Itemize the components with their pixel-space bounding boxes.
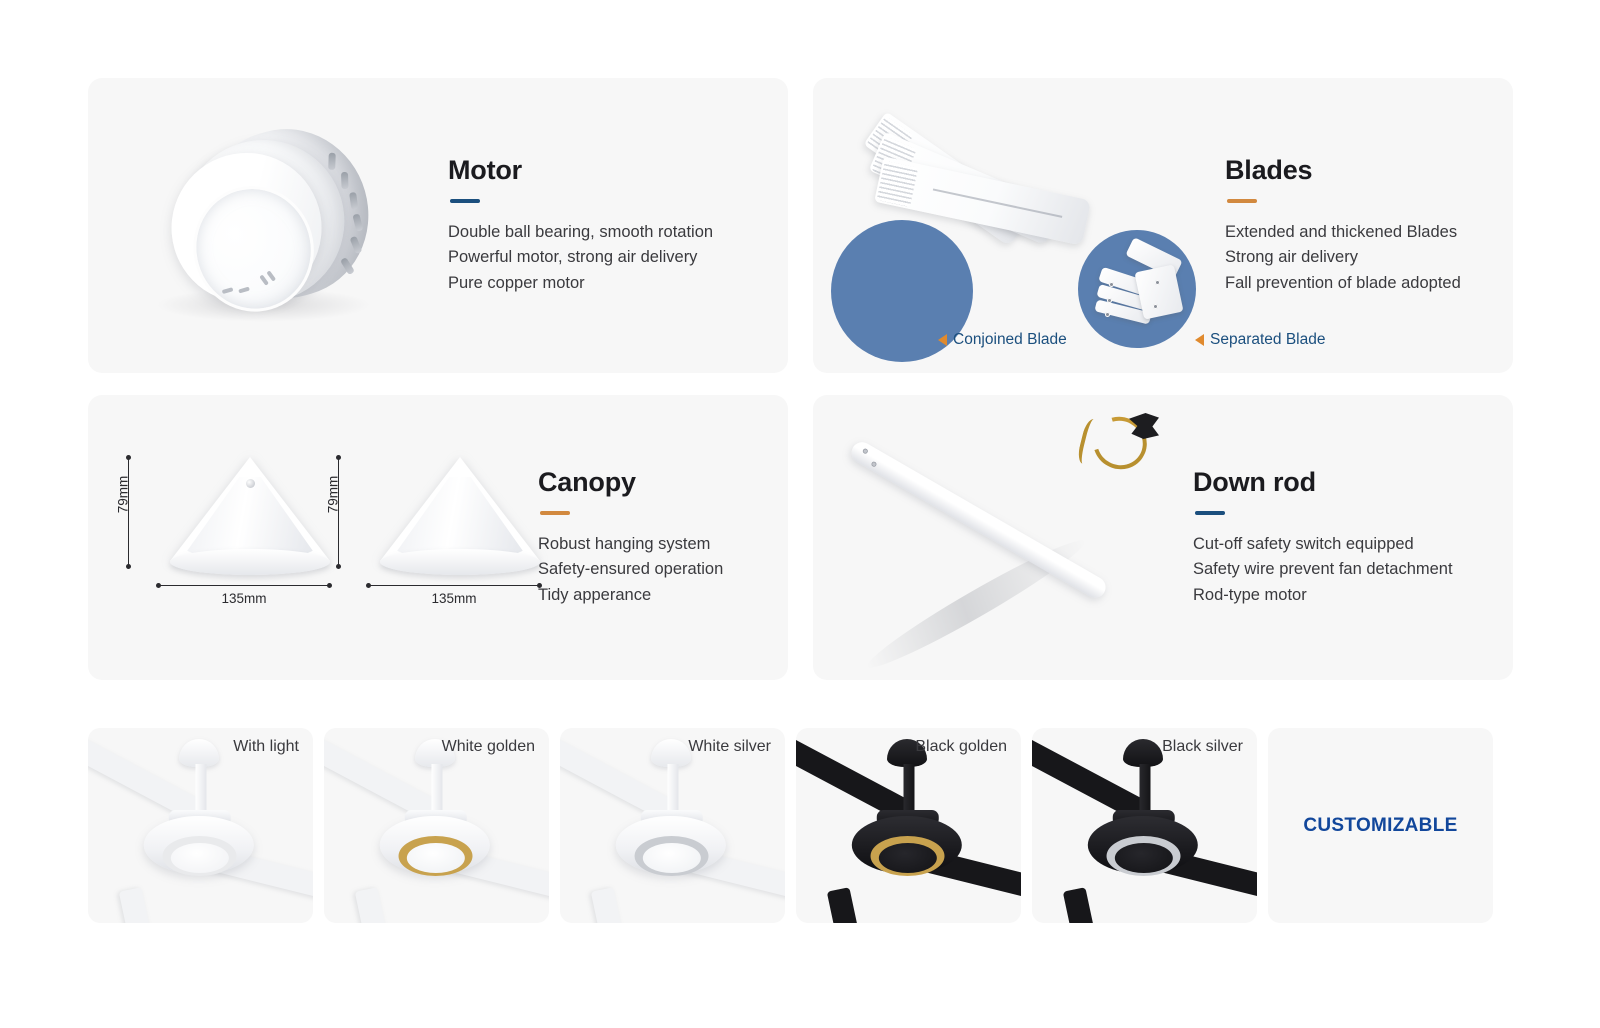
- blades-product-image: Conjoined Blade Separated Blade: [813, 78, 1213, 373]
- customizable-label: CUSTOMIZABLE: [1268, 815, 1493, 837]
- blades-feature-lines: Extended and thickened Blades Strong air…: [1225, 220, 1489, 295]
- canopy-text-block: Canopy Robust hanging system Safety-ensu…: [538, 467, 788, 607]
- variant-card-black-golden[interactable]: Black golden: [796, 728, 1021, 923]
- feature-title-motor: Motor: [448, 155, 764, 186]
- feature-card-grid: Motor Double ball bearing, smooth rotati…: [88, 78, 1493, 680]
- variant-card-with-light[interactable]: With light: [88, 728, 313, 923]
- canopy-height-label: 79mm: [115, 476, 130, 514]
- feature-card-canopy: 79mm 135mm 79mm 135mm: [88, 395, 788, 680]
- fan-image-white-golden: [324, 728, 549, 923]
- accent-bar-down-rod: [1195, 511, 1225, 515]
- variant-card-white-golden[interactable]: White golden: [324, 728, 549, 923]
- motor-product-image: [88, 78, 448, 373]
- separated-blade-detail: [1095, 246, 1187, 332]
- product-feature-page: Motor Double ball bearing, smooth rotati…: [0, 0, 1600, 1028]
- motor-line-2: Powerful motor, strong air delivery: [448, 245, 764, 270]
- variant-label-white-golden: White golden: [442, 738, 535, 756]
- down-rod-line-2: Safety wire prevent fan detachment: [1193, 557, 1489, 582]
- variant-card-customizable[interactable]: CUSTOMIZABLE: [1268, 728, 1493, 923]
- triangle-left-icon: [1195, 334, 1204, 346]
- blades-line-2: Strong air delivery: [1225, 245, 1489, 270]
- feature-title-down-rod: Down rod: [1193, 467, 1489, 498]
- feature-title-blades: Blades: [1225, 155, 1489, 186]
- callout-conjoined-blade-label: Conjoined Blade: [953, 331, 1067, 349]
- canopy-feature-lines: Robust hanging system Safety-ensured ope…: [538, 532, 764, 607]
- canopy-width-dimension-line: [368, 585, 540, 586]
- canopy-width-dimension-line: [158, 585, 330, 586]
- triangle-left-icon: [938, 334, 947, 346]
- canopy-product-image: 79mm 135mm 79mm 135mm: [88, 395, 538, 680]
- down-rod-line-1: Cut-off safety switch equipped: [1193, 532, 1489, 557]
- variant-label-black-silver: Black silver: [1162, 738, 1243, 756]
- canopy-line-2: Safety-ensured operation: [538, 557, 764, 582]
- variant-label-with-light: With light: [233, 738, 299, 756]
- fan-image-black-golden: [796, 728, 1021, 923]
- down-rod-text-block: Down rod Cut-off safety switch equipped …: [1193, 467, 1513, 607]
- motor-line-1: Double ball bearing, smooth rotation: [448, 220, 764, 245]
- canopy-line-3: Tidy apperance: [538, 583, 764, 608]
- canopy-width-label: 135mm: [368, 591, 540, 606]
- motor-feature-lines: Double ball bearing, smooth rotation Pow…: [448, 220, 764, 295]
- canopy-width-label: 135mm: [158, 591, 330, 606]
- canopy-height-label: 79mm: [325, 476, 340, 514]
- callout-conjoined-blade: Conjoined Blade: [938, 331, 1067, 349]
- blades-line-1: Extended and thickened Blades: [1225, 220, 1489, 245]
- callout-separated-blade-label: Separated Blade: [1210, 331, 1325, 349]
- down-rod-product-image: [813, 395, 1193, 680]
- fan-image-white-silver: [560, 728, 785, 923]
- variant-card-black-silver[interactable]: Black silver: [1032, 728, 1257, 923]
- canopy-unit-1: 79mm 135mm: [128, 439, 338, 629]
- blades-text-block: Blades Extended and thickened Blades Str…: [1213, 155, 1513, 295]
- feature-title-canopy: Canopy: [538, 467, 764, 498]
- feature-card-motor: Motor Double ball bearing, smooth rotati…: [88, 78, 788, 373]
- variant-card-white-silver[interactable]: White silver: [560, 728, 785, 923]
- variant-label-black-golden: Black golden: [915, 738, 1007, 756]
- motor-line-3: Pure copper motor: [448, 271, 764, 296]
- variant-label-white-silver: White silver: [688, 738, 771, 756]
- callout-separated-blade: Separated Blade: [1195, 331, 1325, 349]
- feature-card-blades: Conjoined Blade Separated Blade Blades E…: [813, 78, 1513, 373]
- fan-image-black-silver: [1032, 728, 1257, 923]
- blades-line-3: Fall prevention of blade adopted: [1225, 271, 1489, 296]
- accent-bar-blades: [1227, 199, 1257, 203]
- accent-bar-motor: [450, 199, 480, 203]
- feature-card-down-rod: Down rod Cut-off safety switch equipped …: [813, 395, 1513, 680]
- canopy-line-1: Robust hanging system: [538, 532, 764, 557]
- fan-image-with-light: [88, 728, 313, 923]
- canopy-unit-2: 79mm 135mm: [338, 439, 548, 629]
- down-rod-feature-lines: Cut-off safety switch equipped Safety wi…: [1193, 532, 1489, 607]
- down-rod-line-3: Rod-type motor: [1193, 583, 1489, 608]
- color-variant-row: With light White golden: [88, 728, 1493, 923]
- motor-text-block: Motor Double ball bearing, smooth rotati…: [448, 155, 788, 295]
